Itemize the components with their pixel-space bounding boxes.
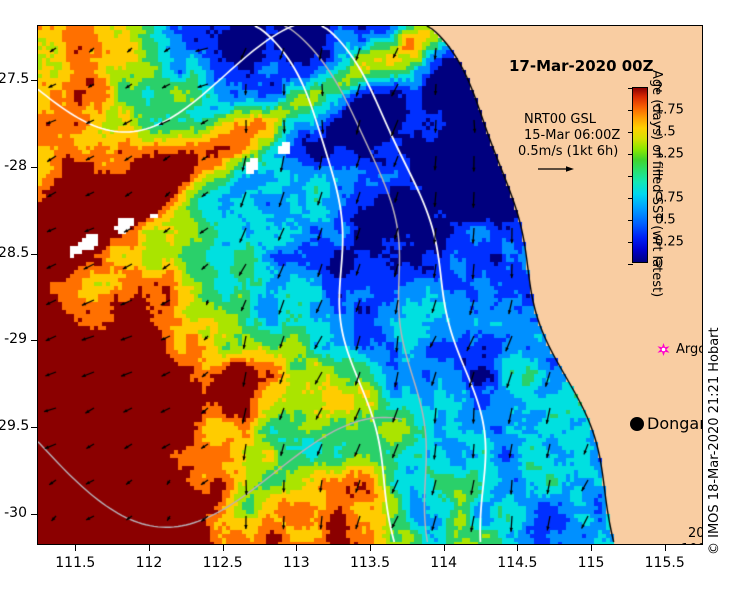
annotation-timestamp: 15-Mar 06:00Z <box>524 128 620 143</box>
colorbar-container[interactable]: 00.250.50.7511.251.51.752 <box>632 87 648 263</box>
x-axis-tick <box>75 545 76 551</box>
colorbar-axis-title: Age (days) of filled SST (wrt latest) <box>649 70 664 297</box>
y-axis-label: -30 <box>0 505 27 521</box>
copyright-notice: © IMOS 18-Mar-2020 21:21 Hobart <box>707 327 722 555</box>
x-axis-label: 112 <box>119 555 179 571</box>
x-axis-label: 115.5 <box>635 555 695 571</box>
colorbar-tick <box>628 220 633 221</box>
argo-label: Argo <box>676 342 703 357</box>
y-axis-tick <box>31 80 37 81</box>
colorbar-tick <box>628 264 633 265</box>
map-title-date: 17-Mar-2020 00Z <box>509 57 654 75</box>
x-axis-tick <box>665 545 666 551</box>
colorbar-tick <box>628 242 633 243</box>
annotation-vector-scale: 0.5m/s (1kt 6h) <box>518 144 618 159</box>
y-axis-label: -29 <box>0 331 27 347</box>
x-axis-tick <box>223 545 224 551</box>
x-axis-label: 115 <box>561 555 621 571</box>
x-axis-tick <box>444 545 445 551</box>
colorbar-tick <box>628 154 633 155</box>
y-axis-tick <box>31 427 37 428</box>
reference-vector-arrow <box>538 165 574 173</box>
x-axis-label: 111.5 <box>45 555 105 571</box>
x-axis-label: 112.5 <box>193 555 253 571</box>
sst-age-field-canvas[interactable] <box>38 26 702 544</box>
x-axis-tick <box>517 545 518 551</box>
dongara-label: Dongara <box>647 414 703 433</box>
y-axis-tick <box>31 340 37 341</box>
scalebar-200m-label: 200m <box>688 526 703 541</box>
y-axis-label: -27.5 <box>0 71 27 87</box>
scalebar-1000m-label: 1000m <box>681 542 703 545</box>
colorbar-gradient[interactable]: 00.250.50.7511.251.51.752 <box>632 87 648 263</box>
colorbar-tick <box>628 176 633 177</box>
colorbar-tick <box>628 88 633 89</box>
y-axis-tick <box>31 254 37 255</box>
colorbar-tick <box>628 110 633 111</box>
y-axis-tick <box>31 514 37 515</box>
x-axis-tick <box>370 545 371 551</box>
x-axis-tick <box>149 545 150 551</box>
y-axis-label: -28 <box>0 158 27 174</box>
annotation-product: NRT00 GSL <box>524 112 596 127</box>
x-axis-label: 113.5 <box>340 555 400 571</box>
x-axis-tick <box>591 545 592 551</box>
x-axis-label: 114.5 <box>487 555 547 571</box>
x-axis-label: 114 <box>414 555 474 571</box>
y-axis-label: -28.5 <box>0 245 27 261</box>
argo-float-icon[interactable] <box>657 343 670 356</box>
colorbar-tick <box>628 132 633 133</box>
y-axis-label: -29.5 <box>0 418 27 434</box>
x-axis-tick <box>296 545 297 551</box>
colorbar-tick <box>628 198 633 199</box>
map-plot-area[interactable]: 17-Mar-2020 00Z NRT00 GSL 15-Mar 06:00Z … <box>37 25 703 545</box>
sst-age-map-figure: 17-Mar-2020 00Z NRT00 GSL 15-Mar 06:00Z … <box>0 0 739 592</box>
y-axis-tick <box>31 167 37 168</box>
dongara-marker-dot[interactable] <box>630 417 644 431</box>
x-axis-label: 113 <box>266 555 326 571</box>
